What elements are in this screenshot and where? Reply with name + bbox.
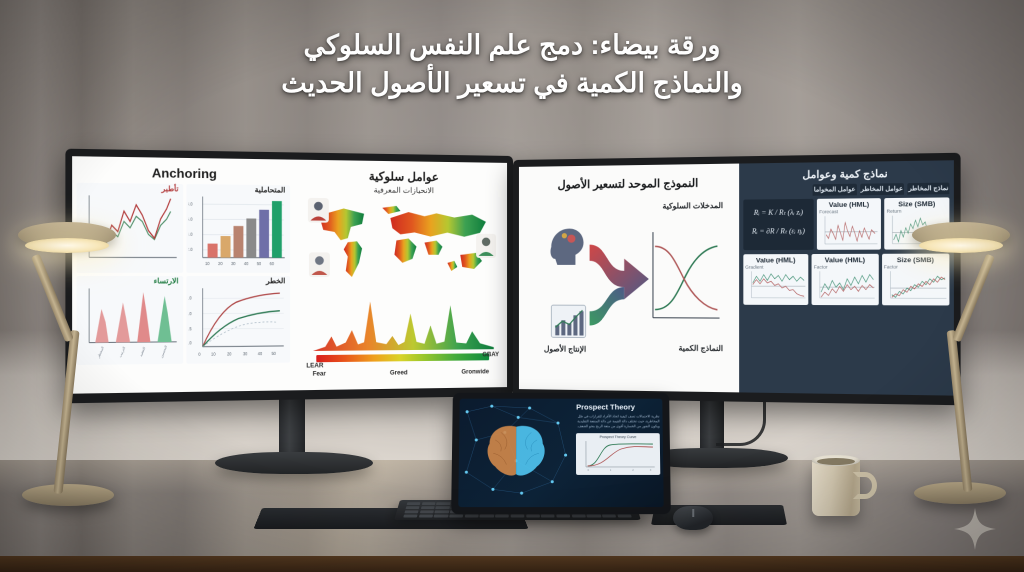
- label-quant-models: النماذج الكمية: [679, 343, 724, 353]
- card-value-hml-gradient[interactable]: Value (HML) Gradient: [743, 254, 808, 305]
- fear-greed-spectrum-chart: LEAR Fear Greed Gronwide GBAY: [302, 291, 503, 374]
- svg-text:المخطر: المخطر: [96, 345, 104, 359]
- card-value-hml-gradient-title: Value (HML): [745, 257, 806, 264]
- page-title: ورقة بيضاء: دمج علم النفس السلوكي والنما…: [0, 26, 1024, 103]
- svg-text:8.0: 8.0: [188, 295, 191, 301]
- card-size-smb-factor-title: Size (SMB): [884, 257, 947, 265]
- chart-risk-curve[interactable]: الخطر: [186, 275, 289, 363]
- tablet-device[interactable]: Prospect Theory نظرية الاحتمالات تصف كيف…: [451, 393, 671, 514]
- chart-risk-curve-title: الخطر: [266, 277, 285, 285]
- svg-text:20: 20: [227, 350, 232, 356]
- computer-mouse[interactable]: [673, 506, 713, 530]
- svg-text:2.0: 2.0: [188, 247, 192, 253]
- unified-model-heading: النموذج الموحد لتسعير الأصول: [528, 176, 729, 192]
- unified-model-diagram: المدخلات السلوكية النماذج الكمية الإنتاج…: [528, 197, 729, 362]
- svg-text:4.0: 4.0: [188, 231, 192, 237]
- scene-root: ورقة بيضاء: دمج علم النفس السلوكي والنما…: [0, 0, 1024, 572]
- svg-text:10: 10: [205, 261, 210, 267]
- unified-model-panel: النموذج الموحد لتسعير الأصول: [519, 164, 739, 393]
- monitor-right-screen: النموذج الموحد لتسعير الأصول: [519, 160, 954, 395]
- label-asset-output: الإنتاج الأصول: [544, 344, 586, 353]
- right-slide: النموذج الموحد لتسعير الأصول: [519, 160, 954, 395]
- formula-2: Rᵢ = ∂R / Rₜ (εᵢ ηᵢ): [746, 222, 810, 241]
- chart-line-framing-title: تأطير: [162, 185, 179, 194]
- quant-heading: نماذج كمية وعوامل: [739, 160, 954, 185]
- chart-anchoring-peaks[interactable]: الارتساء المخطر الترتيب: [77, 275, 183, 365]
- svg-text:8.0: 8.0: [188, 201, 192, 207]
- desk-edge: [0, 556, 1024, 572]
- svg-text:30: 30: [231, 261, 236, 267]
- monitor-left-screen: عوامل سلوكية الانحيازات المعرفية: [72, 156, 507, 393]
- lamp-glow-left: [25, 238, 109, 253]
- svg-text:30: 30: [243, 350, 248, 356]
- svg-text:0: 0: [588, 470, 590, 472]
- spectrum-label-gronwide: Gronwide: [461, 369, 489, 375]
- svg-text:40: 40: [244, 261, 249, 267]
- tab-factor-loadings[interactable]: عوامل المخواما: [813, 184, 857, 196]
- title-line-2: والنماذج الكمية في تسعير الأصول الحديث: [190, 64, 834, 102]
- spectrum-label-gbay: GBAY: [482, 352, 499, 358]
- quant-bottom-row: Size (SMB) Factor Value (HML): [739, 254, 954, 306]
- svg-text:الترتيب: الترتيب: [118, 345, 126, 357]
- svg-text:60: 60: [269, 261, 274, 267]
- behavioral-heading: عوامل سلوكية: [302, 168, 503, 185]
- formula-panel: Rᵢ = K / Rₜ (λᵢ zᵢ) Rᵢ = ∂R / Rₜ (εᵢ ηᵢ): [743, 199, 814, 250]
- mug-opening: [817, 458, 855, 465]
- svg-text:التعقيد: التعقيد: [139, 346, 146, 357]
- mousepad-right: [651, 505, 787, 525]
- prospect-theory-title: Prospect Theory: [576, 403, 659, 412]
- svg-text:6.0: 6.0: [188, 216, 192, 222]
- prospect-theory-panel: Prospect Theory نظرية الاحتمالات تصف كيف…: [573, 399, 664, 507]
- svg-text:3: 3: [650, 470, 652, 472]
- svg-text:0: 0: [198, 351, 201, 357]
- card-value-hml-forecast[interactable]: Value (HML) Forecast: [817, 198, 881, 250]
- card-value-hml-focus-title: Value (HML): [814, 257, 876, 264]
- svg-text:50: 50: [271, 350, 276, 356]
- behavioral-panel: عوامل سلوكية الانحيازات المعرفية: [296, 160, 507, 391]
- formula-1: Rᵢ = K / Rₜ (λᵢ zᵢ): [746, 203, 810, 222]
- chart-anchoring-peaks-title: الارتساء: [154, 277, 179, 285]
- quant-models-panel: نماذج كمية وعوامل نماذج المخاطر عوامل ال…: [739, 160, 954, 395]
- svg-text:1.0: 1.0: [188, 339, 191, 345]
- svg-text:0.5: 0.5: [188, 325, 191, 331]
- tab-risk-models[interactable]: نماذج المخاطر: [907, 183, 949, 195]
- monitor-left[interactable]: عوامل سلوكية الانحيازات المعرفية: [65, 149, 513, 404]
- lamp-base-right: [914, 482, 1006, 504]
- label-behavioral-inputs: المدخلات السلوكية: [662, 201, 723, 211]
- svg-text:50: 50: [257, 261, 262, 267]
- anchoring-panel: Anchoring المتحاملية: [72, 156, 296, 393]
- quant-tab-row: نماذج المخاطر عوامل المخاطر عوامل المخوا…: [739, 183, 954, 197]
- svg-text:40: 40: [258, 350, 263, 356]
- anchoring-chart-grid: المتحاملية: [77, 183, 290, 365]
- brain-network-visual: [458, 399, 573, 507]
- monitor-stand-base-left: [215, 452, 373, 474]
- prospect-theory-body: نظرية الاحتمالات تصف كيفية اتخاذ الأفراد…: [576, 414, 660, 429]
- card-size-smb-factor[interactable]: Size (SMB) Factor: [882, 254, 950, 306]
- prospect-theory-chart[interactable]: Prospect Theory Curve 0123: [576, 433, 660, 475]
- title-line-1: ورقة بيضاء: دمج علم النفس السلوكي: [190, 26, 834, 64]
- anchoring-heading: Anchoring: [77, 165, 290, 182]
- sparkle-watermark-icon: [954, 508, 996, 550]
- card-value-hml-focus[interactable]: Value (HML) Factor: [812, 254, 879, 305]
- mug-handle: [853, 472, 877, 499]
- svg-text:2: 2: [633, 470, 635, 472]
- svg-text:20: 20: [218, 261, 223, 267]
- tablet-screen: Prospect Theory نظرية الاحتمالات تصف كيف…: [458, 399, 663, 507]
- monitor-right[interactable]: النموذج الموحد لتسعير الأصول: [513, 153, 961, 406]
- spectrum-label-lear: LEAR: [306, 363, 323, 369]
- coffee-mug: [812, 460, 860, 516]
- spectrum-label-fear: Fear: [313, 371, 326, 377]
- chart-bar-probability[interactable]: المتحاملية: [186, 184, 289, 272]
- world-map-heatmap: [302, 195, 503, 290]
- svg-text:10: 10: [211, 350, 216, 356]
- svg-text:التحسين: التحسين: [160, 344, 168, 358]
- spectrum-label-greed: Greed: [390, 370, 408, 376]
- svg-text:0.0: 0.0: [188, 310, 191, 316]
- chart-bar-probability-title: المتحاملية: [255, 186, 286, 195]
- svg-text:1: 1: [610, 470, 612, 472]
- lamp-glow-right: [919, 238, 1003, 253]
- behavioral-slide: عوامل سلوكية الانحيازات المعرفية: [72, 156, 507, 393]
- tab-risk-factors[interactable]: عوامل المخاطر: [860, 183, 904, 195]
- spectrum-labels: LEAR Fear Greed Gronwide GBAY: [302, 360, 503, 381]
- lamp-base-left: [22, 484, 114, 506]
